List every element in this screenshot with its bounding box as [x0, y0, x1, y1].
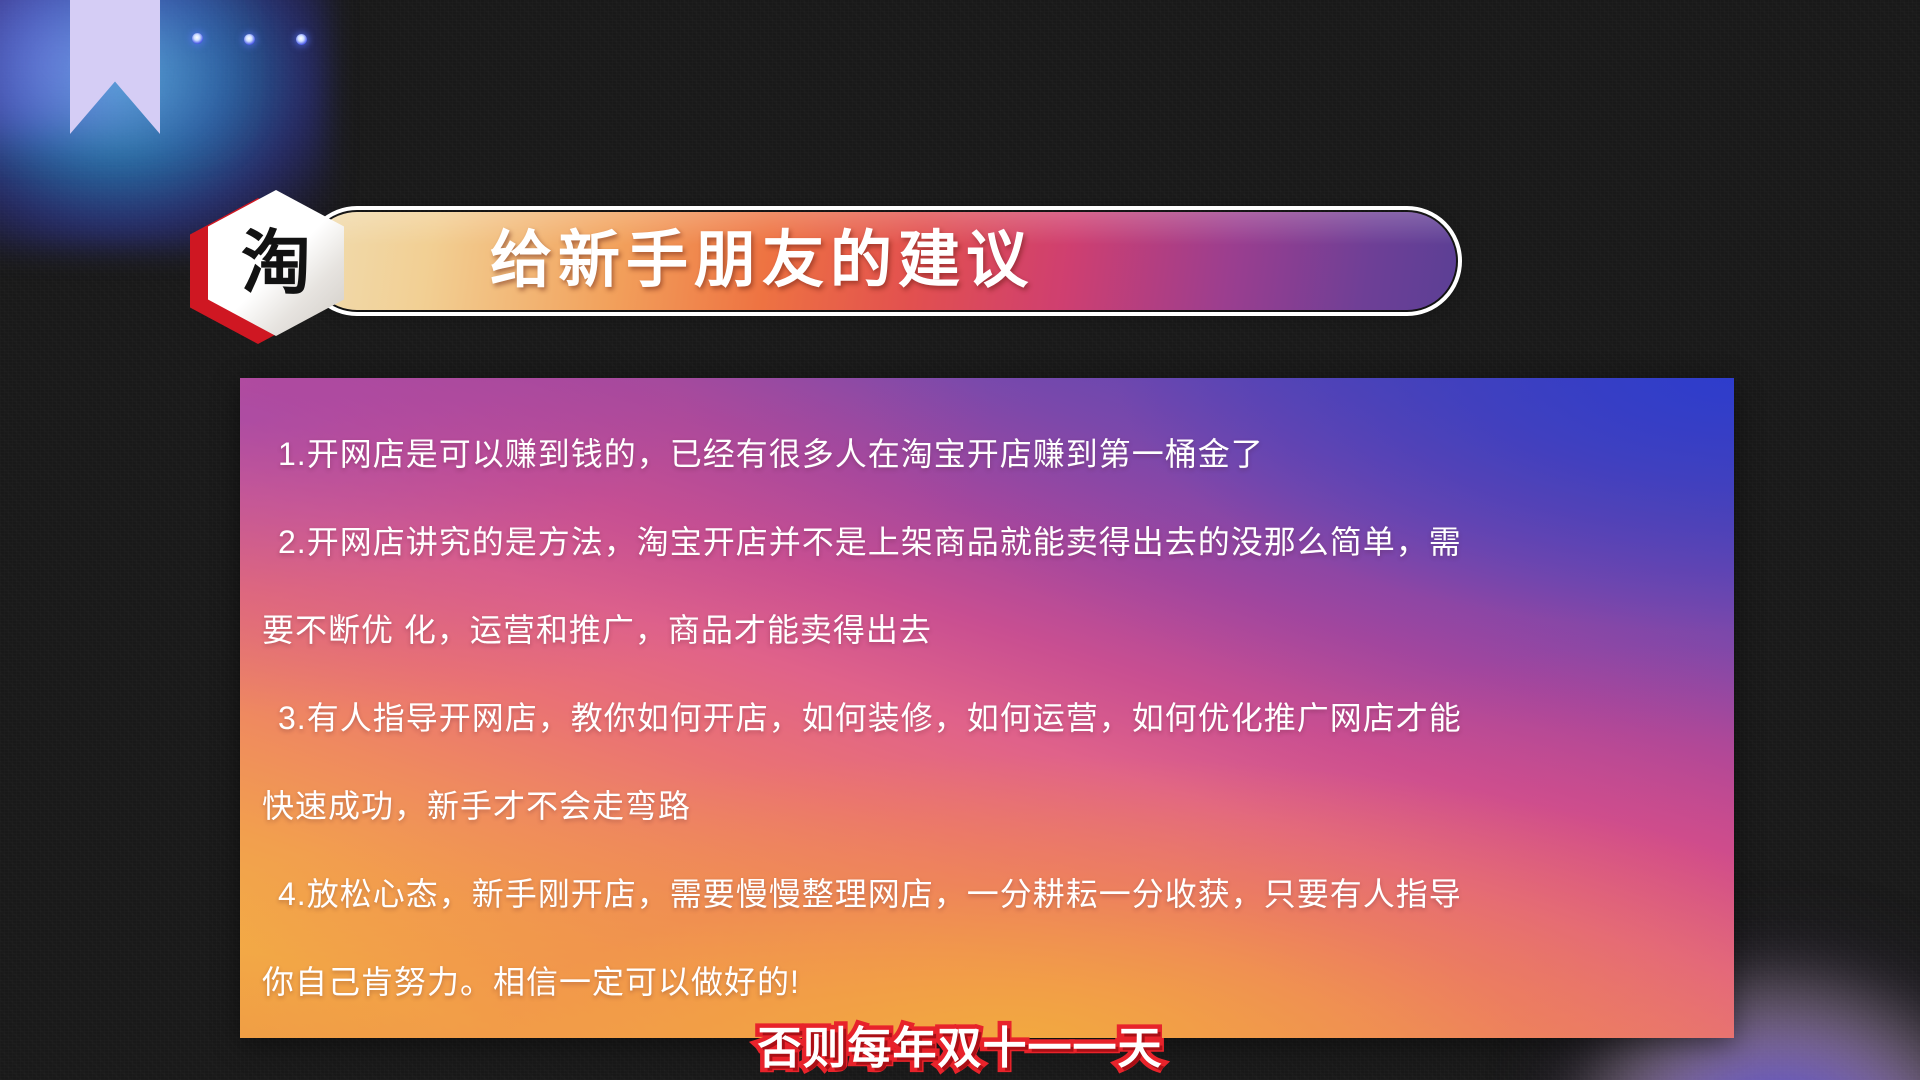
- decorative-dot-icon: [244, 34, 255, 45]
- top-left-glow-secondary: [0, 0, 240, 140]
- page-title: 给新手朋友的建议: [490, 212, 1390, 310]
- content-list: 1.开网店是可以赚到钱的，已经有很多人在淘宝开店赚到第一桶金了 2.开网店讲究的…: [240, 378, 1734, 1026]
- slide-canvas: 给新手朋友的建议 淘 1.开网店是可以赚到钱的，已经有很多人在淘宝开店赚到第一桶…: [0, 0, 1920, 1080]
- decorative-dot-icon: [192, 33, 203, 44]
- decorative-dot-icon: [296, 34, 307, 45]
- content-panel: 1.开网店是可以赚到钱的，已经有很多人在淘宝开店赚到第一桶金了 2.开网店讲究的…: [240, 378, 1734, 1038]
- list-item-continuation: 你自己肯努力。相信一定可以做好的!: [262, 938, 1712, 1026]
- hexagon-badge-label: 淘: [208, 190, 344, 336]
- list-item: 1.开网店是可以赚到钱的，已经有很多人在淘宝开店赚到第一桶金了: [262, 410, 1712, 498]
- list-item-continuation: 快速成功，新手才不会走弯路: [262, 762, 1712, 850]
- list-item: 3.有人指导开网店，教你如何开店，如何装修，如何运营，如何优化推广网店才能: [262, 674, 1712, 762]
- title-banner: 给新手朋友的建议 淘: [190, 190, 1280, 310]
- list-item: 2.开网店讲究的是方法，淘宝开店并不是上架商品就能卖得出去的没那么简单，需: [262, 498, 1712, 586]
- list-item-continuation: 要不断优 化，运营和推广，商品才能卖得出去: [262, 586, 1712, 674]
- bookmark-ribbon-icon: [70, 0, 160, 134]
- list-item: 4.放松心态，新手刚开店，需要慢慢整理网店，一分耕耘一分收获，只要有人指导: [262, 850, 1712, 938]
